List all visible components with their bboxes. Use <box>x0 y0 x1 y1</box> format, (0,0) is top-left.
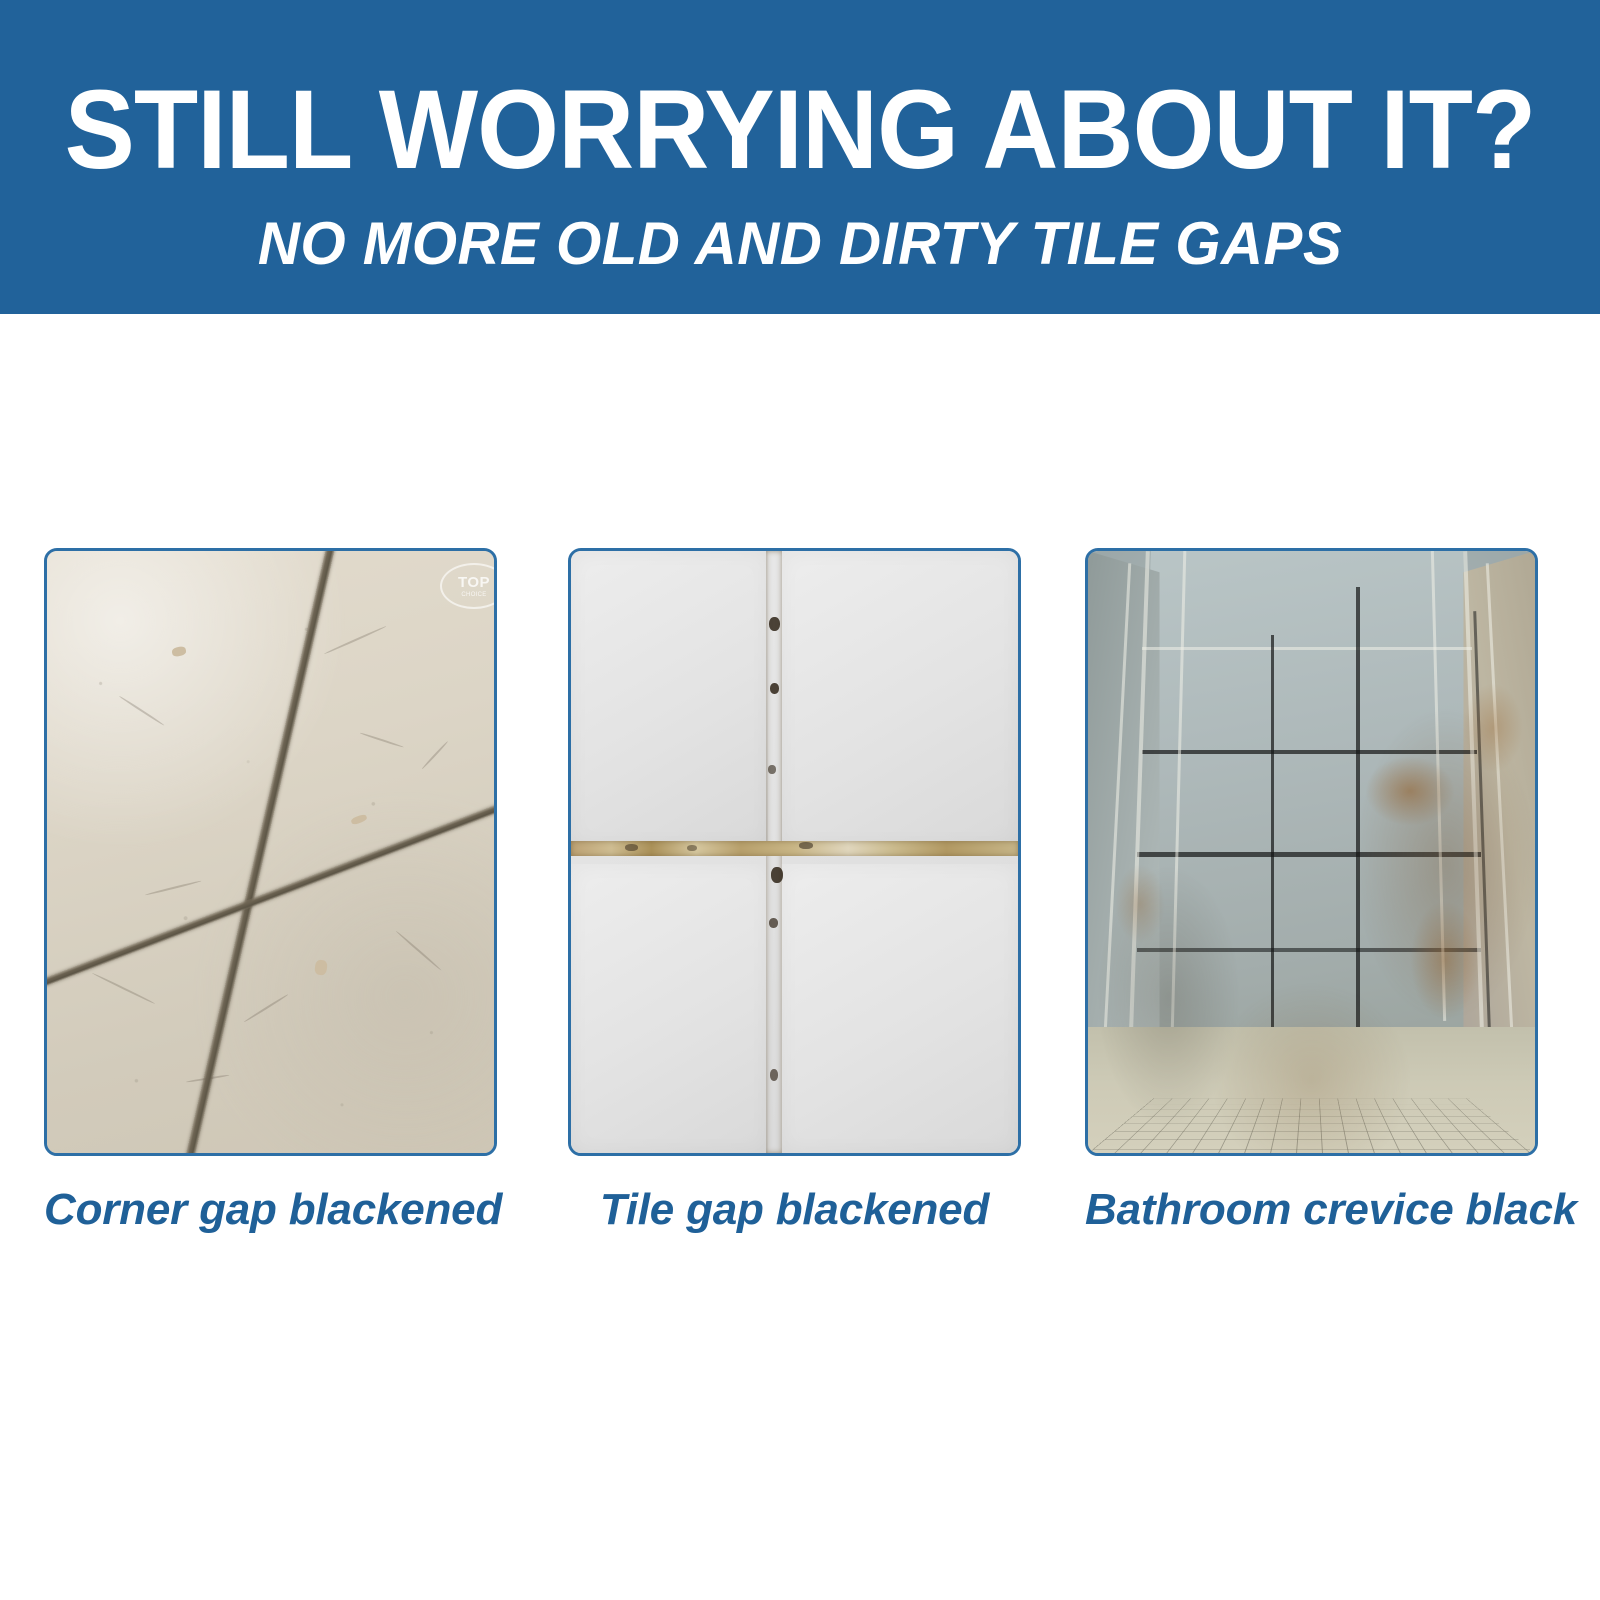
tile-bottom-right <box>781 864 1018 1153</box>
mold-spot <box>770 1069 778 1081</box>
grout-line-horizontal <box>571 841 1018 856</box>
promo-poster: STILL WORRYING ABOUT IT? NO MORE OLD AND… <box>0 0 1600 1600</box>
photo-image-tile-gap <box>571 551 1018 1153</box>
photo-caption-tile-gap: Tile gap blackened <box>568 1184 1021 1236</box>
watermark-sublabel: CHOICE <box>461 592 486 598</box>
gallery-item: TOP CHOICE Corner gap blackened <box>44 548 497 1156</box>
tile-bottom-left <box>571 864 768 1153</box>
gallery-item: Tile gap blackened <box>568 548 1021 1156</box>
grime-overlay <box>1088 551 1535 1153</box>
mold-spot <box>769 617 780 631</box>
photo-frame-bathroom-crevice <box>1085 548 1538 1156</box>
photo-image-corner-gap: TOP CHOICE <box>47 551 494 1153</box>
tile-speckle-texture <box>47 551 494 1153</box>
mold-spot <box>769 918 778 928</box>
page-title: STILL WORRYING ABOUT IT? <box>48 74 1552 186</box>
watermark-label: TOP <box>458 575 490 590</box>
header-banner: STILL WORRYING ABOUT IT? NO MORE OLD AND… <box>0 0 1600 314</box>
photo-caption-corner-gap: Corner gap blackened <box>44 1184 497 1236</box>
mold-spot <box>771 867 783 883</box>
mold-spot <box>768 765 776 774</box>
photo-frame-tile-gap <box>568 548 1021 1156</box>
tile-top-left <box>571 551 768 846</box>
photo-caption-bathroom-crevice: Bathroom crevice black <box>1085 1184 1538 1236</box>
gallery-item: Bathroom crevice black <box>1085 548 1538 1156</box>
mold-spot <box>625 844 638 851</box>
page-subtitle: NO MORE OLD AND DIRTY TILE GAPS <box>24 212 1576 276</box>
tile-top-right <box>781 551 1018 846</box>
photo-image-bathroom-crevice <box>1088 551 1535 1153</box>
mold-spot <box>687 845 697 851</box>
photo-gallery: TOP CHOICE Corner gap blackened <box>44 548 1556 1268</box>
photo-frame-corner-gap: TOP CHOICE <box>44 548 497 1156</box>
